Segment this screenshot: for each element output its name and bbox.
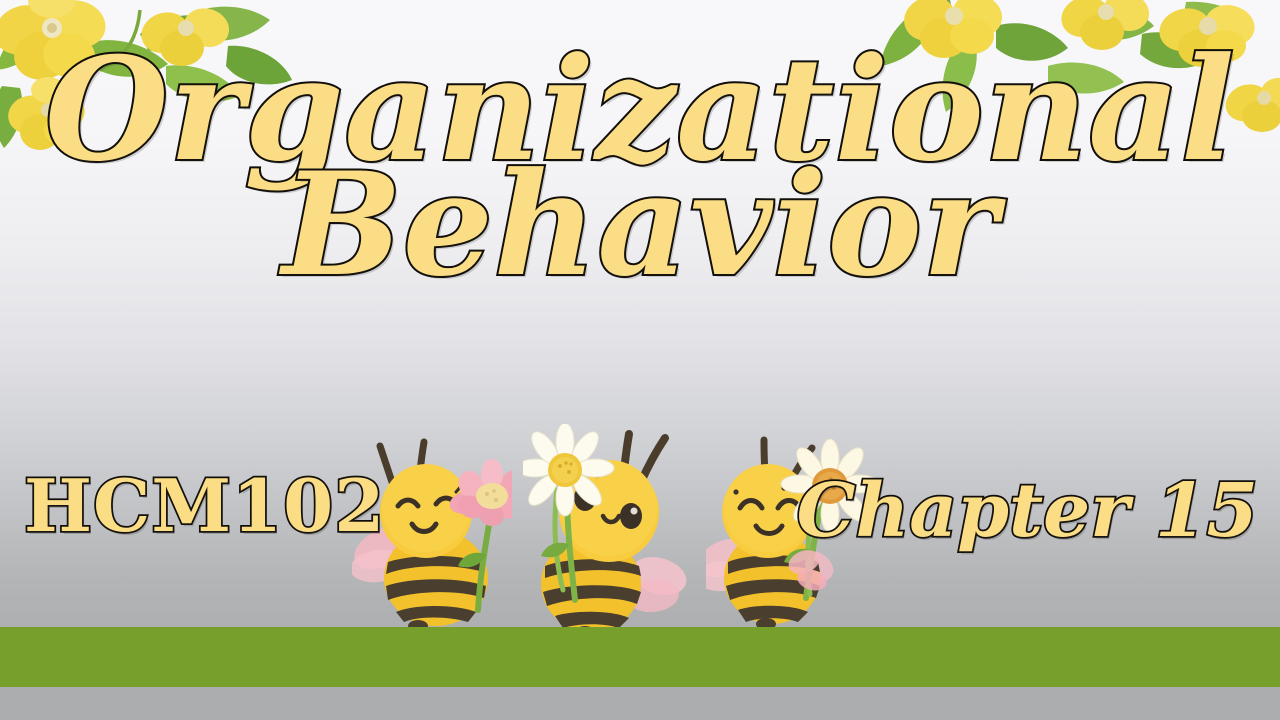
bee-illustration-center [523, 424, 709, 640]
course-code-label: HCM102 [24, 463, 385, 548]
footer-green-bar [0, 627, 1280, 687]
footer-gray-bar [0, 687, 1280, 720]
slide-title: Organizational Behavior [0, 44, 1280, 293]
presentation-slide: Organizational Behavior [0, 0, 1280, 720]
chapter-label: Chapter 15 [797, 468, 1258, 554]
